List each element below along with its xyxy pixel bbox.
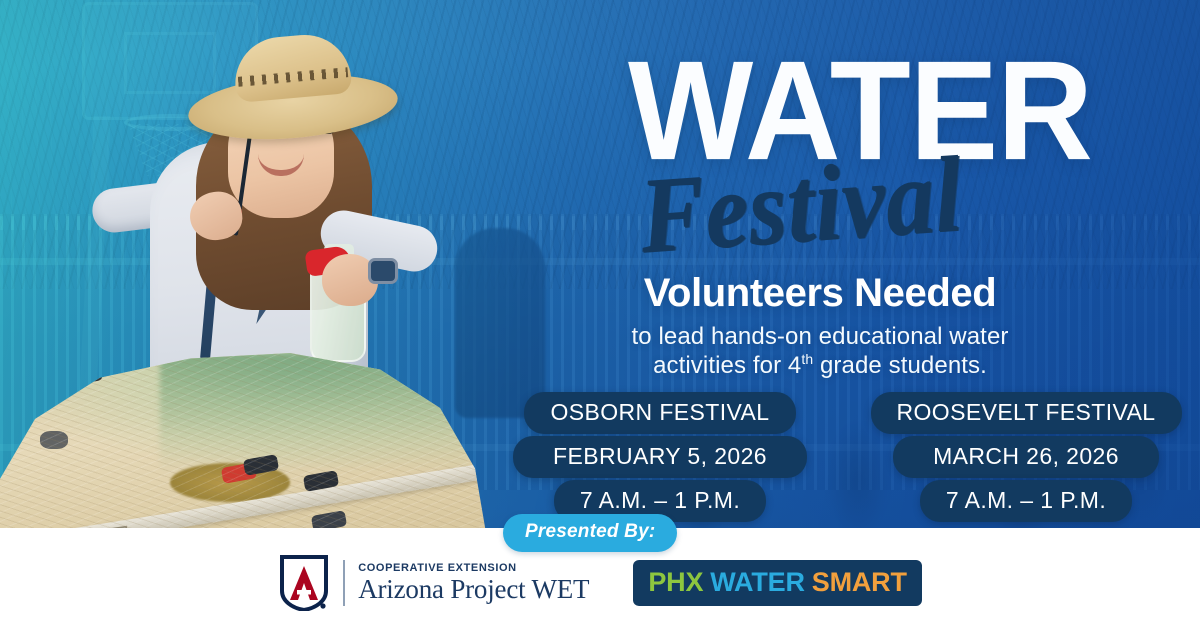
sponsor-logos: COOPERATIVE EXTENSION Arizona Project WE… [0,552,1200,614]
event-name-badge: OSBORN FESTIVAL [524,392,795,434]
subheading: Volunteers Needed [600,272,1040,314]
presented-by-badge: Presented By: [503,514,677,552]
phx-logo-part-smart: SMART [812,569,907,596]
water-festival-banner: WATER Festival Volunteers Needed to lead… [0,0,1200,628]
subject-wristwatch [368,258,398,284]
straw-hat-icon [188,36,398,132]
arizona-project-wet-name: Arizona Project WET [358,575,589,603]
arizona-project-wet-logo[interactable]: COOPERATIVE EXTENSION Arizona Project WE… [278,555,589,611]
phx-logo-space [703,569,710,596]
event-date-badge: MARCH 26, 2026 [893,436,1159,478]
arizona-logo-wordmark: COOPERATIVE EXTENSION Arizona Project WE… [358,562,589,603]
phx-logo-space [805,569,812,596]
description-line-2-post: grade students. [813,352,987,379]
phx-logo-part-water: WATER [710,569,805,596]
description-text: to lead hands-on educational water activ… [600,322,1040,381]
ordinal-suffix: th [801,351,813,367]
description-line-2: activities for 4th grade students. [600,351,1040,380]
event-date-badge: FEBRUARY 5, 2026 [513,436,807,478]
event-time-badge: 7 A.M. – 1 P.M. [920,480,1132,522]
event-roosevelt: ROOSEVELT FESTIVAL MARCH 26, 2026 7 A.M.… [846,392,1200,522]
phx-logo-part-phx: PHX [648,569,703,596]
page-title-script: Festival [636,140,965,270]
hat-crown [232,31,353,103]
event-osborn: OSBORN FESTIVAL FEBRUARY 5, 2026 7 A.M. … [480,392,840,522]
cooperative-extension-label: COOPERATIVE EXTENSION [358,562,589,574]
event-list: OSBORN FESTIVAL FEBRUARY 5, 2026 7 A.M. … [0,392,1200,498]
phx-water-smart-logo[interactable]: PHX WATER SMART [633,560,921,606]
logo-divider [343,560,345,606]
university-of-arizona-block-a-icon [278,555,330,611]
description-line-1: to lead hands-on educational water [600,322,1040,351]
event-name-badge: ROOSEVELT FESTIVAL [871,392,1182,434]
description-line-2-pre: activities for 4 [653,352,801,379]
